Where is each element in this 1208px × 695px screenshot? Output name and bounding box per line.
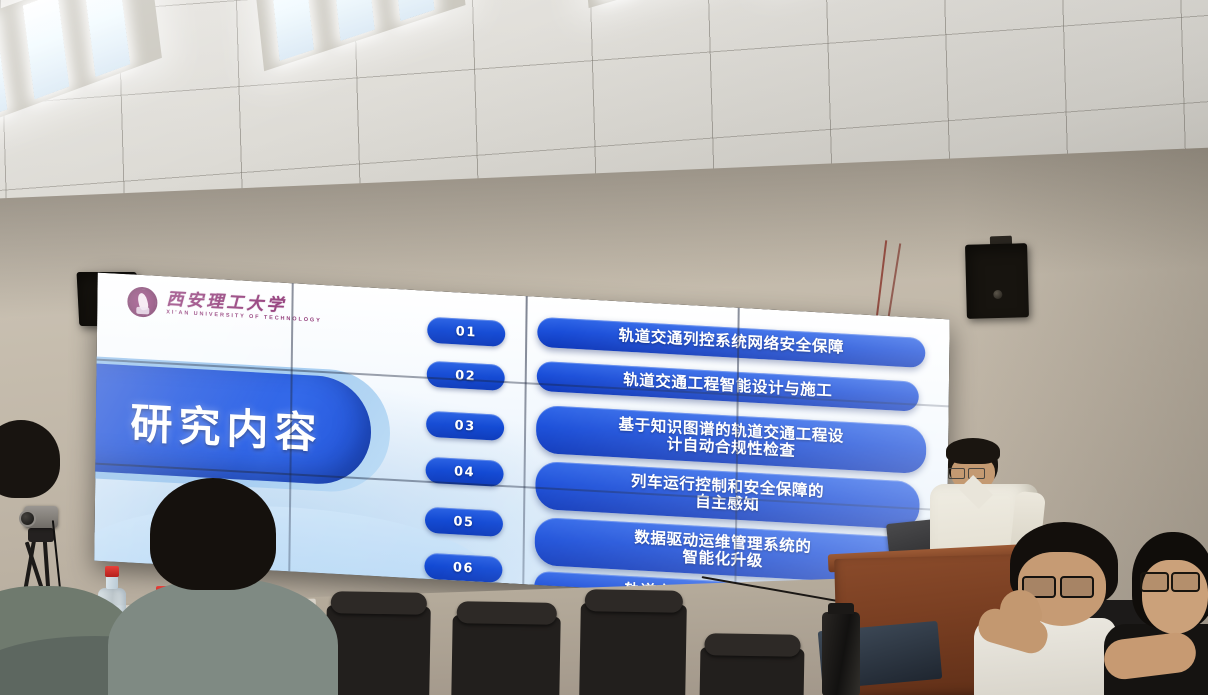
- item-number-badge: 03: [426, 411, 504, 441]
- content-bubble-text: 数据驱动运维管理系统的 智能化升级: [634, 529, 812, 573]
- item-number-label: 06: [453, 560, 474, 576]
- content-bubble-text: 轨道交通列控系统网络安全保障: [619, 328, 845, 358]
- content-bubble-text: 基于知识图谱的轨道交通工程设 计自动合规性检查: [618, 416, 844, 463]
- presenter-glasses-icon: [948, 468, 988, 477]
- item-number-label: 04: [454, 464, 475, 480]
- item-number-label: 03: [454, 418, 475, 434]
- content-bubble: 轨道交通工程智能设计与施工: [537, 361, 919, 412]
- slide-title-text: 研究内容: [94, 386, 323, 460]
- content-bubble-text: 列车运行控制和安全保障的 自主感知: [631, 473, 825, 518]
- wall-speaker-right: [965, 243, 1029, 319]
- content-bubble-text: 轨道交通工程智能设计与施工: [623, 372, 833, 401]
- item-number-label: 02: [455, 368, 476, 384]
- university-logo: 西安理工大学 XI'AN UNIVERSITY OF TECHNOLOGY: [127, 286, 322, 327]
- thermos-bottle: [822, 612, 860, 695]
- item-number-badge: 05: [425, 507, 503, 537]
- item-number-column: 01 02 03 04 05 06: [424, 305, 519, 572]
- item-number-badge: 04: [425, 457, 503, 487]
- tripod-head: [28, 528, 54, 542]
- content-bubble: 轨道交通列控系统网络安全保障: [537, 317, 925, 368]
- conference-chair: [325, 605, 431, 695]
- conference-chair: [451, 615, 560, 695]
- attendee-woman-glasses-icon: [1140, 572, 1200, 588]
- item-number-label: 05: [453, 514, 474, 530]
- slide-title-badge: 研究内容: [94, 360, 371, 486]
- item-number-label: 01: [456, 324, 477, 340]
- presenter-hair: [946, 438, 1000, 464]
- university-seal-icon: [127, 286, 157, 318]
- conference-room-photo: 西安理工大学 XI'AN UNIVERSITY OF TECHNOLOGY 研究…: [0, 0, 1208, 695]
- conference-chair: [700, 647, 805, 695]
- item-number-badge: 06: [424, 553, 502, 583]
- conference-chair: [579, 603, 687, 695]
- item-number-badge: 01: [427, 317, 505, 347]
- attendee-glasses-icon: [1022, 576, 1096, 594]
- item-number-badge: 02: [427, 361, 505, 391]
